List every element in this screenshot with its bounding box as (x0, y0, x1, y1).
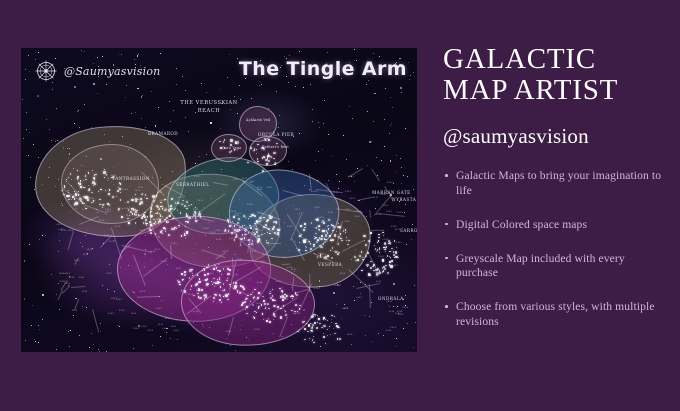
map-region-label: Serrathiel (176, 182, 209, 187)
feature-bullet: Galactic Maps to bring your imagination … (443, 169, 667, 199)
map-title: The Tingle Arm (239, 58, 407, 80)
map-cluster-label: Achlarin Veil (246, 118, 271, 122)
watermark-text: @Saumyasvision (64, 65, 160, 78)
map-region-label: Ondrala (378, 296, 404, 301)
title-line-1: GALACTIC (443, 43, 596, 75)
map-region-label: Bramarod (148, 131, 178, 136)
feature-bullet: Greyscale Map included with every purcha… (443, 252, 667, 282)
page-title: GALACTIC MAP ARTIST (443, 44, 667, 106)
poster: The Verusskian Reach •••••••••••••••••••… (0, 0, 680, 411)
map-region-label: Sarronel (400, 228, 417, 233)
map-cluster-label: Caro Vega (222, 146, 242, 150)
map-cluster-label: Ketheri's Rest (262, 145, 289, 149)
feature-list: Galactic Maps to bring your imagination … (443, 169, 667, 330)
title-line-2: MAP ARTIST (443, 74, 618, 106)
galactic-map-image: The Verusskian Reach •••••••••••••••••••… (21, 48, 417, 352)
map-region-label: Vespera (318, 262, 342, 267)
map-region-label: Vantrassion (112, 176, 150, 181)
compass-rose-icon (35, 60, 57, 82)
feature-bullet: Digital Colored space maps (443, 218, 667, 233)
artist-handle: @saumyasvision (443, 124, 667, 149)
feature-bullet: Choose from various styles, with multipl… (443, 300, 667, 330)
map-region-label: Nyrasta (392, 197, 416, 202)
map-region-label: Marran Gate (372, 190, 411, 195)
info-panel: GALACTIC MAP ARTIST @saumyasvision Galac… (443, 44, 667, 349)
map-watermark: @Saumyasvision (35, 60, 160, 82)
map-region-label: Orcula Pier (258, 132, 294, 137)
reach-region-label: The Verusskian Reach (177, 100, 241, 116)
